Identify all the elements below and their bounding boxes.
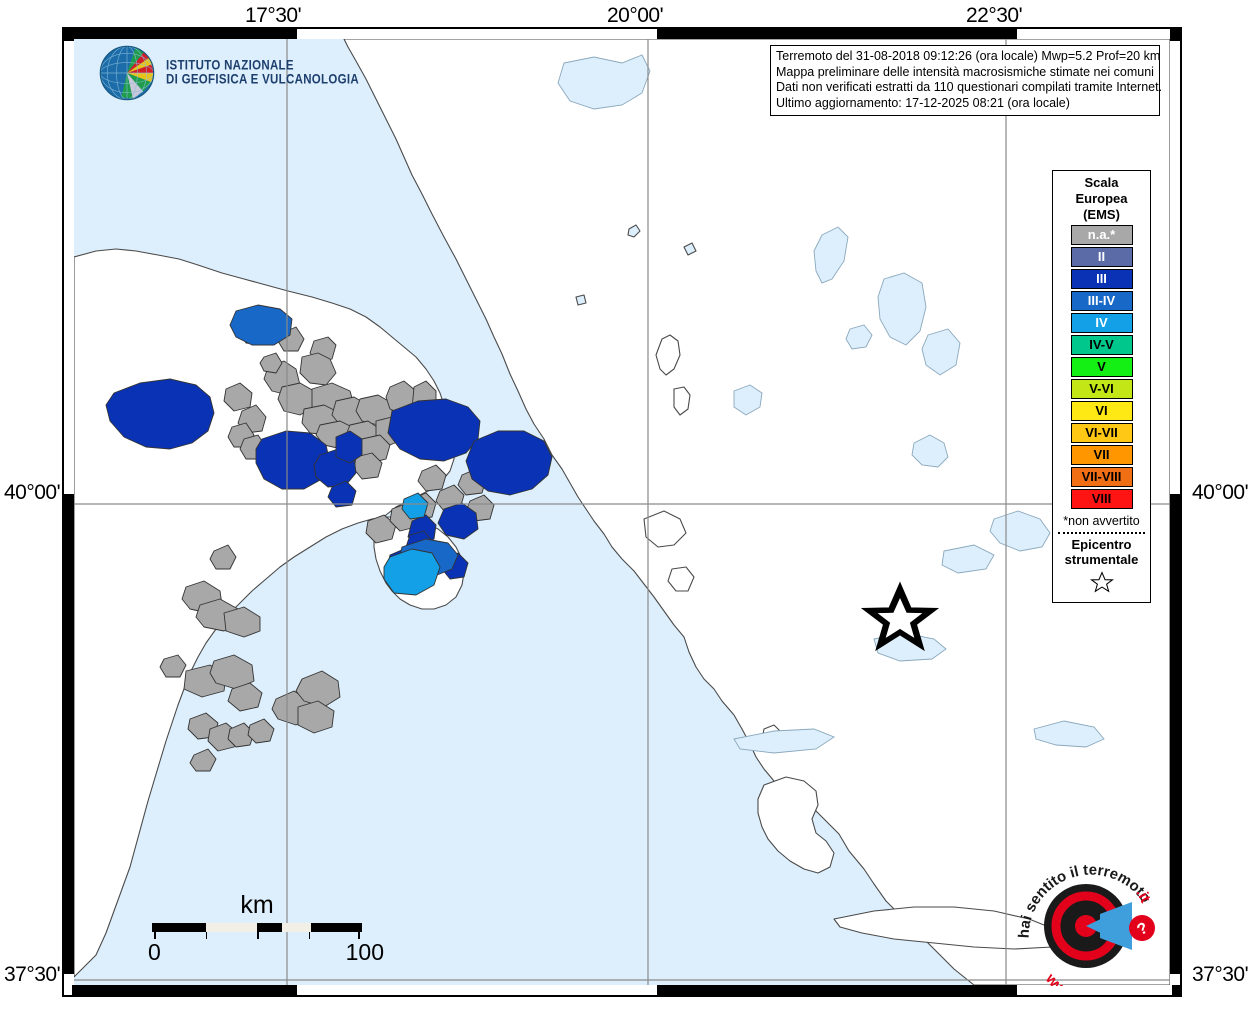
axis-label-left-1: 40°00'	[4, 481, 60, 505]
legend-swatch-v[interactable]: V	[1071, 357, 1133, 377]
map-vector-layer	[74, 39, 1170, 985]
legend-swatch-iii-iv[interactable]: III-IV	[1071, 291, 1133, 311]
info-line-maptype: Mappa preliminare delle intensità macros…	[776, 65, 1154, 81]
event-info-box: Terremoto del 31-08-2018 09:12:26 (ora l…	[770, 45, 1160, 116]
scale-bar-unit: km	[152, 892, 362, 919]
axis-label-top-2: 20°00'	[607, 4, 663, 28]
legend-epicentre-line2: strumentale	[1053, 552, 1150, 567]
ingv-logo-line2: DI GEOFISICA E VULCANOLOGIA	[166, 72, 359, 89]
legend-swatch-ii[interactable]: II	[1071, 247, 1133, 267]
ingv-globe-icon	[98, 44, 156, 102]
scale-bar-labels: 0 100	[152, 939, 362, 965]
legend-swatch-n-a-[interactable]: n.a.*	[1071, 225, 1133, 245]
legend-swatch-viii[interactable]: VIII	[1071, 489, 1133, 509]
scale-bar: km 0 100	[152, 892, 362, 965]
map-page: 17°30' 20°00' 22°30' 17°30' 20°00' 22°30…	[0, 0, 1254, 1024]
axis-label-left-2: 37°30'	[4, 963, 60, 987]
axis-label-top-1: 17°30'	[245, 4, 301, 28]
legend-swatch-vi[interactable]: VI	[1071, 401, 1133, 421]
legend-swatch-v-vi[interactable]: V-VI	[1071, 379, 1133, 399]
info-line-data-source: Dati non verificati estratti da 110 ques…	[776, 80, 1154, 96]
axis-label-right-2: 37°30'	[1192, 963, 1248, 987]
map-canvas[interactable]	[74, 39, 1170, 985]
legend-divider	[1058, 532, 1145, 534]
island-speck-2	[576, 295, 586, 305]
legend-epicentre-line1: Epicentro	[1053, 537, 1150, 552]
legend-title-line1: Scala	[1053, 175, 1150, 191]
legend-epicentre-symbol	[1053, 570, 1150, 596]
axis-label-top-3: 22°30'	[966, 4, 1022, 28]
star-outline-icon	[1088, 570, 1116, 596]
municipality-iii-iv	[230, 305, 292, 345]
legend-title-line2: Europea	[1053, 191, 1150, 207]
legend-title-line3: (EMS)	[1053, 207, 1150, 223]
hsit-logo-icon: ? hai sentito il terremoto www. .it	[1016, 858, 1166, 986]
scale-bar-min: 0	[148, 939, 161, 966]
legend-swatch-iii[interactable]: III	[1071, 269, 1133, 289]
legend-swatch-vi-vii[interactable]: VI-VII	[1071, 423, 1133, 443]
legend-swatch-iv[interactable]: IV	[1071, 313, 1133, 333]
legend-panel: Scala Europea (EMS) n.a.*IIIIIIII-IVIVIV…	[1052, 170, 1151, 603]
legend-footnote: *non avvertito	[1053, 514, 1150, 528]
ingv-logo-text: ISTITUTO NAZIONALE DI GEOFISICA E VULCAN…	[166, 59, 359, 87]
axis-label-right-1: 40°00'	[1192, 481, 1248, 505]
info-line-updated: Ultimo aggiornamento: 17-12-2025 08:21 (…	[776, 96, 1154, 112]
legend-swatch-iv-v[interactable]: IV-V	[1071, 335, 1133, 355]
hsit-watermark-logo[interactable]: ? hai sentito il terremoto www. .it	[1016, 858, 1166, 986]
scale-bar-track	[152, 923, 362, 932]
legend-swatch-vii[interactable]: VII	[1071, 445, 1133, 465]
scale-bar-max: 100	[346, 939, 384, 966]
hsit-arc-text-bottom: www.	[1041, 970, 1080, 986]
info-line-event: Terremoto del 31-08-2018 09:12:26 (ora l…	[776, 49, 1154, 65]
ingv-logo: ISTITUTO NAZIONALE DI GEOFISICA E VULCAN…	[98, 44, 359, 102]
legend-items-list[interactable]: n.a.*IIIIIIII-IVIVIV-VVV-VIVIVI-VIIVIIVI…	[1053, 225, 1150, 509]
legend-swatch-vii-viii[interactable]: VII-VIII	[1071, 467, 1133, 487]
